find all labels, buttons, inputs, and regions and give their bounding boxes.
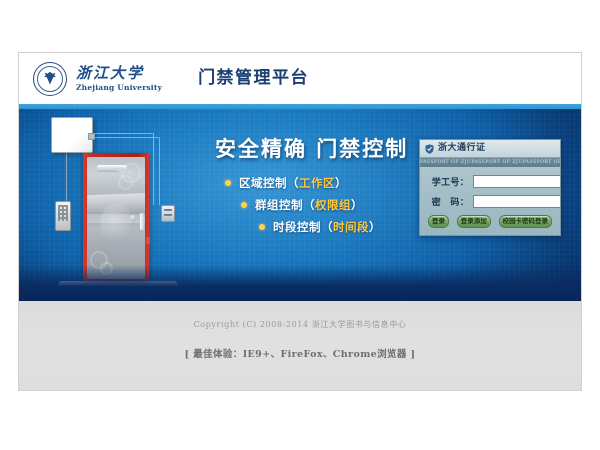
door-lock-knob-icon (130, 215, 136, 221)
feature-item-time-control: 时段控制（ 时间段 ） (219, 219, 419, 235)
floor-plate (54, 281, 183, 293)
feature-tag: 工作区 (299, 175, 335, 191)
bullet-dot-icon (259, 224, 265, 230)
cable-reader-vertical (153, 133, 155, 205)
banner-headline: 安全精确 门禁控制 (215, 133, 408, 163)
login-form: 学工号： 密 码： 登录 登录添加 校园卡密码登录 (420, 167, 560, 235)
cable-controller-to-reader-top2 (91, 137, 159, 139)
feature-label: 时段控制（ (273, 219, 333, 235)
controller-latch (88, 133, 95, 140)
userid-label: 学工号： (427, 175, 469, 188)
university-name-en: Zhejiang University (76, 84, 162, 92)
passport-strip-text: PASSPORT OF ZJU (420, 160, 471, 165)
keypad-reader-icon (55, 201, 71, 231)
site-footer: Copyright (C) 2008-2014 浙江大学图书与信息中心 [ 最佳… (19, 301, 581, 391)
page-card: 浙江大学 Zhejiang University 门禁管理平台 (18, 52, 582, 391)
reader-slot (164, 209, 172, 211)
door-frame (83, 153, 149, 281)
feature-tag: 时间段 (333, 219, 369, 235)
cable-controller-to-reader-top (91, 133, 153, 135)
gear-icon (100, 262, 113, 275)
login-panel: 浙大通行证 PASSPORT OF ZJU PASSPORT OF ZJU PA… (419, 139, 561, 236)
platform-title: 门禁管理平台 (198, 70, 309, 87)
login-button-row: 登录 登录添加 校园卡密码登录 (427, 215, 553, 228)
university-name-zh: 浙江大学 (76, 66, 162, 82)
passport-strip-text: PASSPORT OF ZJU (523, 160, 560, 165)
banner-feature-list: 区域控制（ 工作区 ） 群组控制（ 权限组 ） 时段控制（ 时间段 ） (219, 175, 419, 241)
controller-box-icon (51, 117, 93, 153)
feature-item-group-control: 群组控制（ 权限组 ） (219, 197, 419, 213)
site-header: 浙江大学 Zhejiang University 门禁管理平台 (19, 53, 581, 104)
seal-bird-glyph (43, 70, 57, 85)
feature-label: 区域控制（ (239, 175, 299, 191)
card-reader-icon (161, 205, 175, 222)
footer-copyright: Copyright (C) 2008-2014 浙江大学图书与信息中心 (194, 319, 407, 330)
bullet-dot-icon (225, 180, 231, 186)
reader-slot (164, 214, 172, 216)
field-row-userid: 学工号： (427, 175, 553, 188)
login-passport-strip: PASSPORT OF ZJU PASSPORT OF ZJU PASSPORT… (420, 158, 560, 167)
page-root: 浙江大学 Zhejiang University 门禁管理平台 (0, 0, 600, 450)
hero-banner: 安全精确 门禁控制 区域控制（ 工作区 ） 群组控制（ 权限组 ） 时段 (19, 109, 581, 301)
campus-card-login-button[interactable]: 校园卡密码登录 (499, 215, 553, 228)
feature-tag: 权限组 (315, 197, 351, 213)
footer-browser-note: [ 最佳体验：IE9+、FireFox、Chrome浏览器 ] (185, 346, 416, 360)
door-leaf (87, 157, 145, 279)
feature-paren-close: ） (335, 175, 347, 191)
feature-label: 群组控制（ (255, 197, 315, 213)
password-label: 密 码： (427, 195, 469, 208)
login-panel-titlebar: 浙大通行证 (420, 140, 560, 158)
login-add-button[interactable]: 登录添加 (457, 215, 491, 228)
passport-strip-text: PASSPORT OF ZJU (471, 160, 522, 165)
access-control-door-illustration (43, 113, 193, 299)
password-input[interactable] (473, 195, 561, 208)
userid-input[interactable] (473, 175, 561, 188)
login-button[interactable]: 登录 (428, 215, 449, 228)
feature-paren-close: ） (351, 197, 363, 213)
feature-paren-close: ） (369, 219, 381, 235)
university-wordmark: 浙江大学 Zhejiang University (76, 66, 162, 91)
gear-icon (118, 175, 133, 190)
shield-icon (425, 144, 434, 154)
door-strike-plate (146, 237, 150, 244)
keypad-keys (58, 205, 68, 221)
bullet-dot-icon (241, 202, 247, 208)
zju-seal-logo-icon (33, 62, 67, 96)
feature-item-area-control: 区域控制（ 工作区 ） (219, 175, 419, 191)
door-handle-icon (140, 213, 144, 230)
login-panel-title: 浙大通行证 (438, 144, 486, 153)
field-row-password: 密 码： (427, 195, 553, 208)
cable-controller-to-keypad (66, 151, 68, 201)
cable-reader-vertical2 (159, 137, 161, 205)
door-highlight (100, 203, 132, 244)
